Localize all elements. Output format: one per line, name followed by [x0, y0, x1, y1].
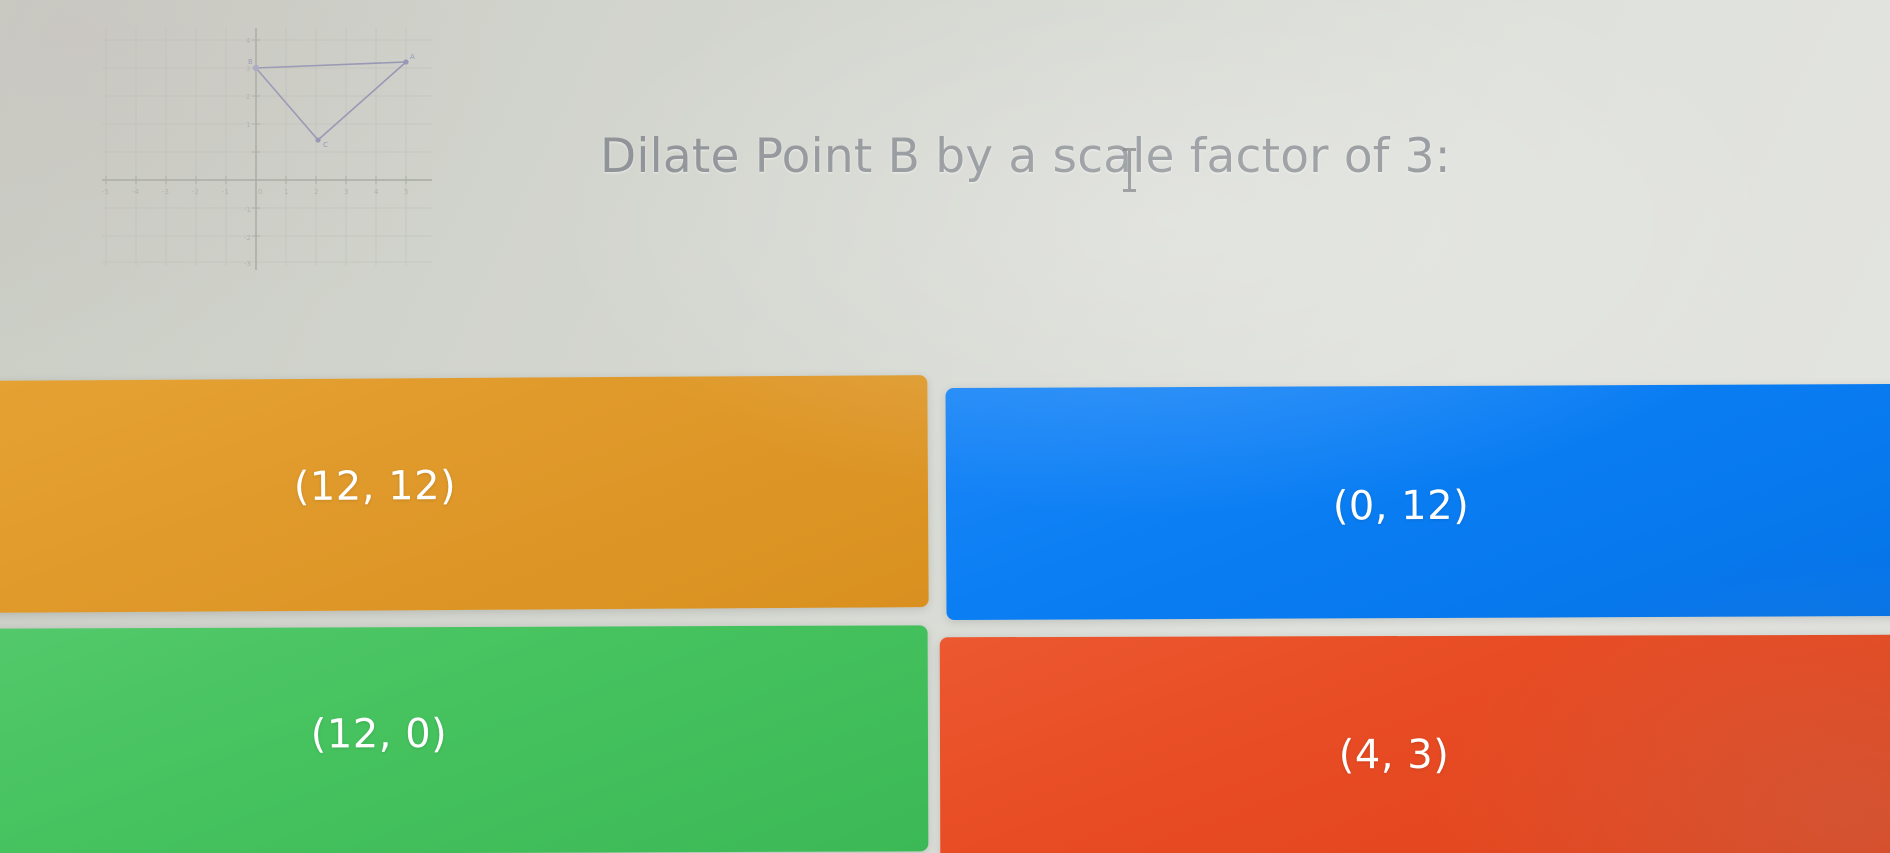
graph-svg: -5 -4 -3 -2 -1 0 1 2 3 4 5 4 3 2 1 -1 -2	[96, 22, 436, 270]
vertex-a-label: A	[410, 53, 415, 61]
answer-option-2[interactable]: (0, 12)	[945, 384, 1890, 620]
svg-text:-1: -1	[244, 206, 251, 214]
answer-option-3-label: (12, 0)	[311, 711, 448, 757]
svg-text:5: 5	[404, 188, 408, 196]
svg-text:1: 1	[284, 188, 288, 196]
coordinate-plane-triangle-figure: -5 -4 -3 -2 -1 0 1 2 3 4 5 4 3 2 1 -1 -2	[96, 22, 436, 270]
answer-options-grid: (12, 12) (0, 12) (12, 0) (4, 3)	[0, 378, 1890, 853]
answer-option-4[interactable]: (4, 3)	[940, 635, 1890, 853]
question-area: -5 -4 -3 -2 -1 0 1 2 3 4 5 4 3 2 1 -1 -2	[0, 0, 1890, 378]
text-cursor-icon	[1128, 148, 1131, 192]
svg-text:3: 3	[344, 188, 348, 196]
svg-text:-4: -4	[132, 188, 140, 196]
quiz-screen: -5 -4 -3 -2 -1 0 1 2 3 4 5 4 3 2 1 -1 -2	[0, 0, 1890, 853]
svg-text:4: 4	[246, 37, 251, 45]
svg-text:-1: -1	[222, 188, 229, 196]
svg-text:1: 1	[246, 121, 250, 129]
answer-option-2-label: (0, 12)	[1333, 483, 1470, 530]
svg-text:0: 0	[258, 188, 262, 196]
svg-text:-2: -2	[192, 188, 199, 196]
vertex-a-point	[403, 59, 408, 64]
svg-text:2: 2	[314, 188, 318, 196]
svg-text:3: 3	[246, 65, 250, 73]
svg-text:-5: -5	[102, 188, 109, 196]
svg-text:4: 4	[374, 188, 379, 196]
vertex-b-label: B	[248, 58, 253, 66]
svg-text:2: 2	[246, 93, 250, 101]
svg-text:-3: -3	[162, 188, 169, 196]
vertex-b-point	[253, 65, 259, 71]
question-prompt: Dilate Point B by a scale factor of 3:	[600, 128, 1600, 187]
answer-option-4-label: (4, 3)	[1339, 732, 1450, 778]
vertex-c-label: C	[323, 141, 328, 149]
vertex-c-point	[315, 137, 320, 142]
svg-text:-2: -2	[244, 234, 251, 242]
answer-option-1-label: (12, 12)	[294, 463, 457, 510]
answer-option-3[interactable]: (12, 0)	[0, 625, 928, 853]
triangle-abc	[256, 62, 406, 140]
answer-option-1[interactable]: (12, 12)	[0, 375, 929, 613]
axes	[102, 28, 432, 270]
svg-text:-3: -3	[244, 260, 251, 268]
